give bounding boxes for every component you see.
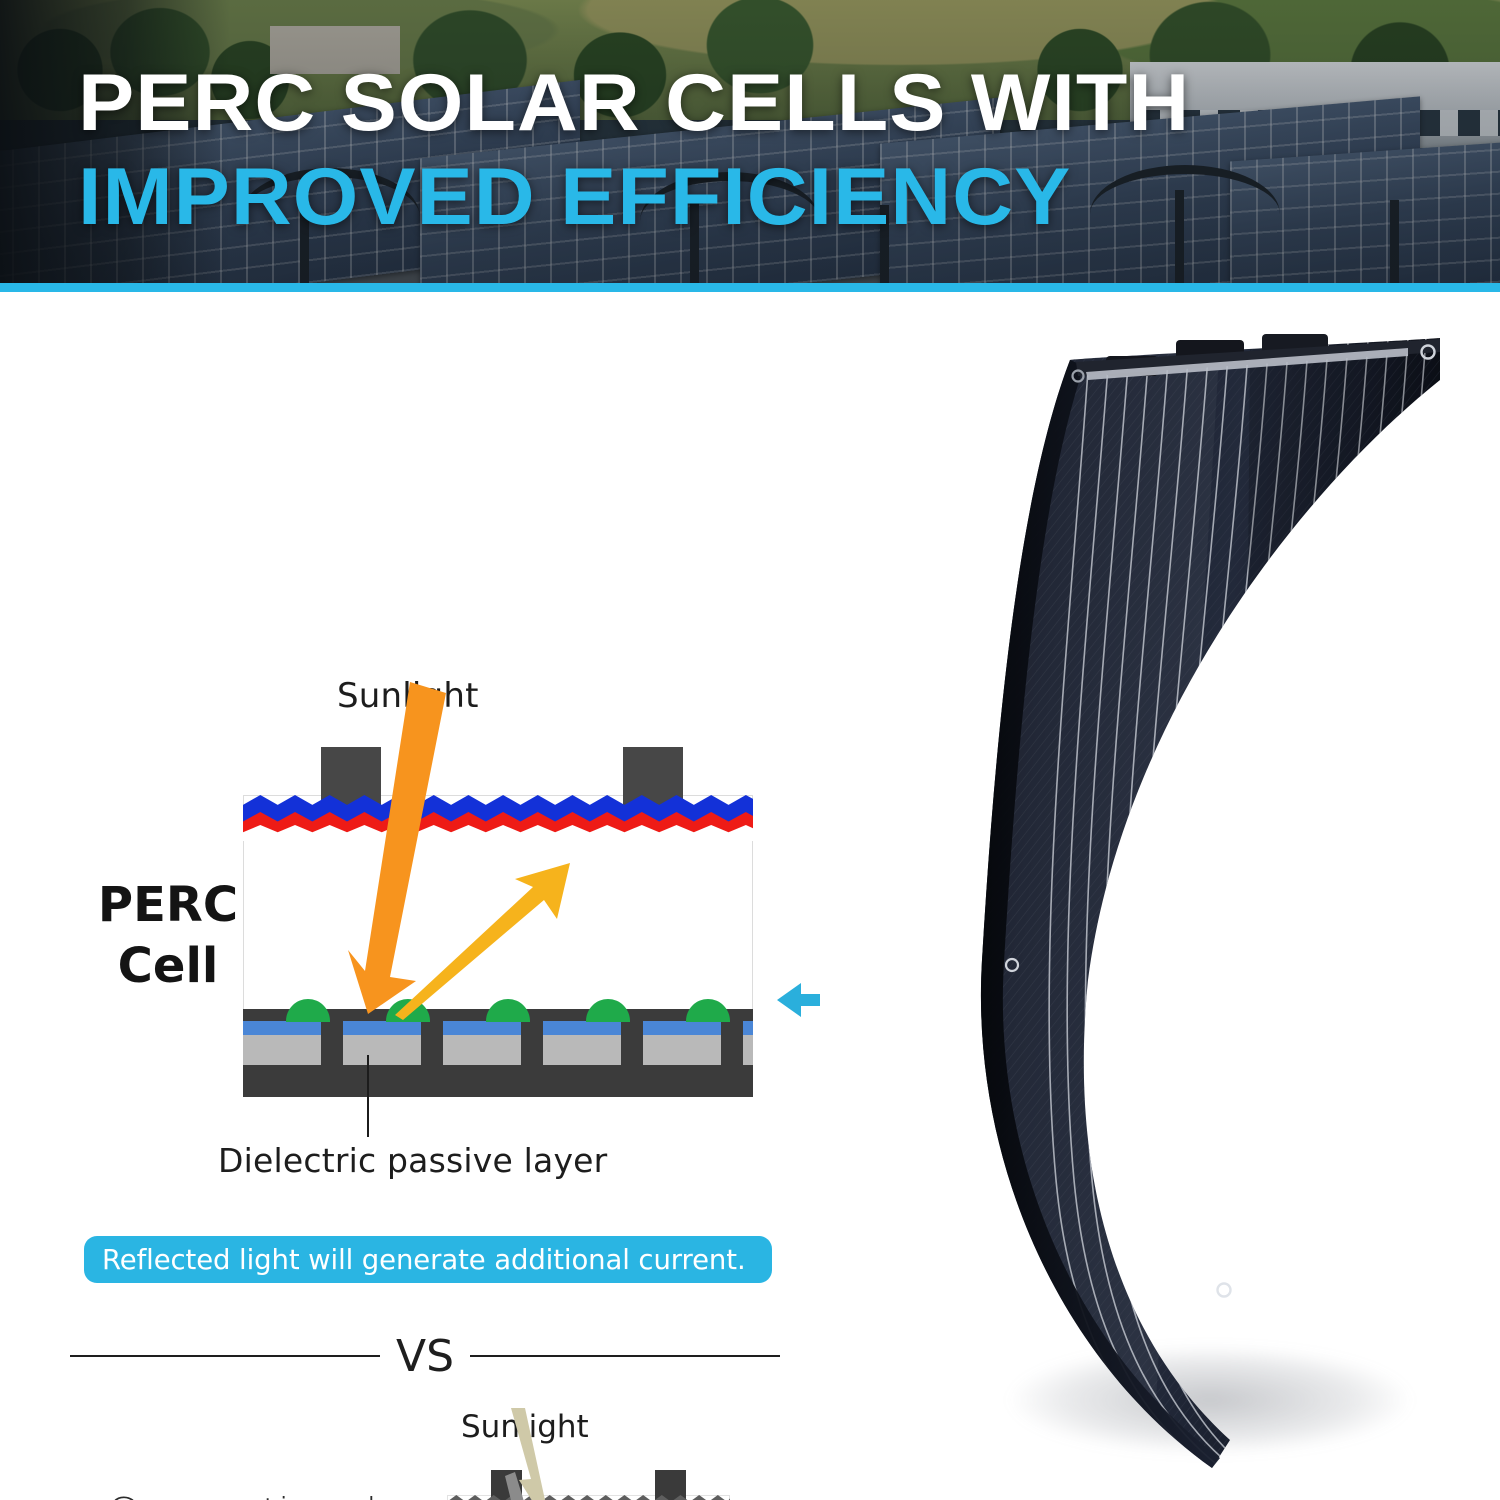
flexible-solar-panel-image bbox=[820, 300, 1500, 1500]
hero-banner: PERC SOLAR CELLS WITH IMPROVED EFFICIENC… bbox=[0, 0, 1500, 283]
hero-title-line-1: PERC SOLAR CELLS WITH bbox=[78, 64, 1326, 143]
reflected-light-arrow bbox=[395, 863, 570, 1020]
dielectric-leader-line bbox=[367, 1055, 369, 1137]
incoming-sunlight-arrow bbox=[348, 682, 446, 1014]
perc-cell-diagram bbox=[243, 747, 753, 1097]
vs-divider: VS bbox=[70, 1330, 780, 1382]
vs-rule-right bbox=[470, 1355, 780, 1357]
page-root: PERC SOLAR CELLS WITH IMPROVED EFFICIENC… bbox=[0, 0, 1500, 1500]
hero-accent-rule bbox=[0, 283, 1500, 292]
perc-cell-label-line-2: Cell bbox=[68, 936, 268, 997]
perc-callout-text: Reflected light will generate additional… bbox=[102, 1244, 746, 1276]
hero-title: PERC SOLAR CELLS WITH IMPROVED EFFICIENC… bbox=[78, 64, 1278, 238]
vs-label: VS bbox=[380, 1331, 470, 1382]
conventional-cell-diagram bbox=[447, 1470, 730, 1500]
perc-cell-label-line-1: PERC bbox=[68, 875, 268, 936]
perc-cell-label: PERC Cell bbox=[68, 875, 268, 998]
conventional-light-arrow bbox=[447, 1470, 730, 1500]
dielectric-passive-layer-label: Dielectric passive layer bbox=[218, 1141, 607, 1180]
panel-body bbox=[820, 300, 1500, 1500]
conventional-cell-label-line-1: Conventional bbox=[92, 1486, 392, 1500]
perc-light-arrows bbox=[243, 747, 753, 1097]
hero-title-line-2: IMPROVED EFFICIENCY bbox=[78, 158, 1326, 237]
product-photo bbox=[820, 300, 1500, 1500]
conventional-cell-label: Conventional Cell bbox=[92, 1486, 392, 1500]
perc-callout-badge: Reflected light will generate additional… bbox=[84, 1236, 772, 1283]
vs-rule-left bbox=[70, 1355, 380, 1357]
comparison-column: PERC Cell Sunlight bbox=[0, 292, 830, 1500]
mounting-grommet bbox=[1218, 1284, 1231, 1297]
